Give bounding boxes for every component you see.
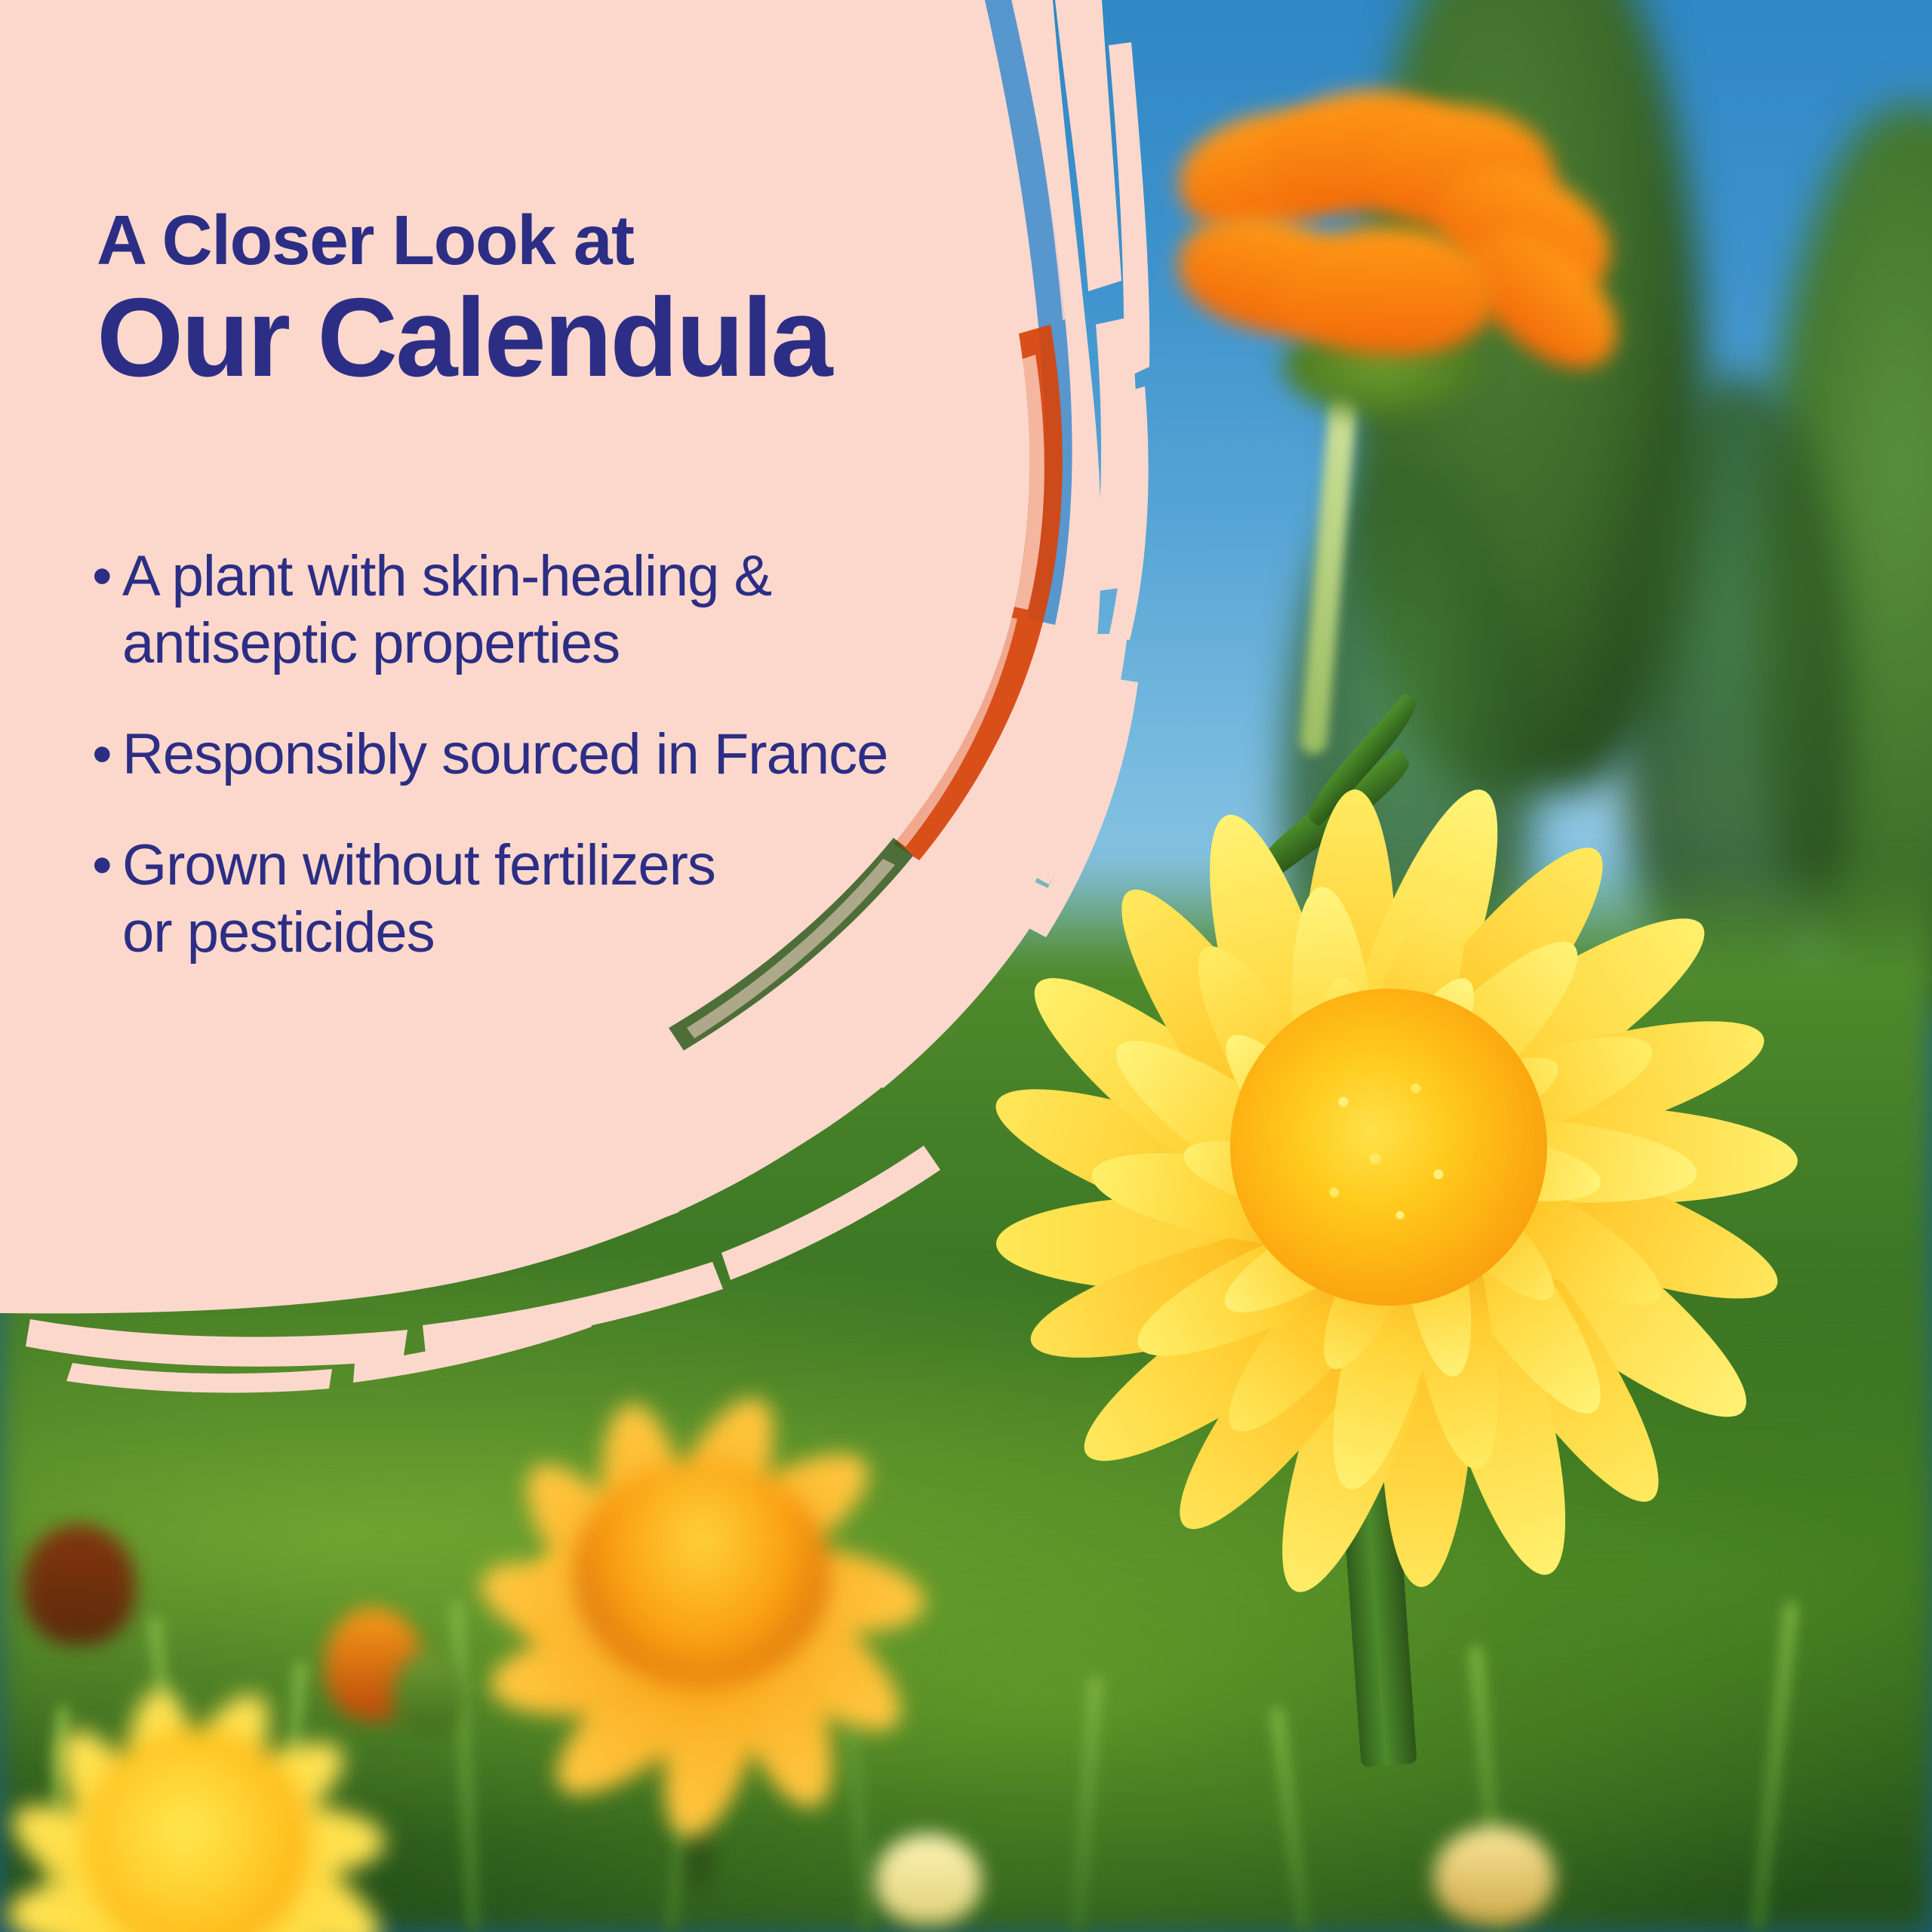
flower-disc-florets xyxy=(1275,1034,1502,1260)
headline-kicker: A Closer Look at xyxy=(97,205,634,275)
bullet-marker-icon: • xyxy=(92,543,122,611)
list-item-label: A plant with skin-healing & antiseptic p… xyxy=(122,543,1028,678)
list-item: • Responsibly sourced in France xyxy=(92,721,1028,789)
list-item: • Grown without fertilizers or pesticide… xyxy=(92,832,1028,967)
bullet-marker-icon: • xyxy=(92,832,122,900)
list-item-label: Grown without fertilizers or pesticides xyxy=(122,832,1028,967)
bullet-marker-icon: • xyxy=(92,721,122,789)
list-item-label: Responsibly sourced in France xyxy=(122,721,1028,789)
page-title: Our Calendula xyxy=(97,282,831,394)
feature-list: • A plant with skin-healing & antiseptic… xyxy=(92,543,1028,967)
text-content: A Closer Look at Our Calendula • A plant… xyxy=(0,0,1132,1132)
list-item: • A plant with skin-healing & antiseptic… xyxy=(92,543,1028,678)
poster-canvas: A Closer Look at Our Calendula • A plant… xyxy=(0,0,1932,1932)
